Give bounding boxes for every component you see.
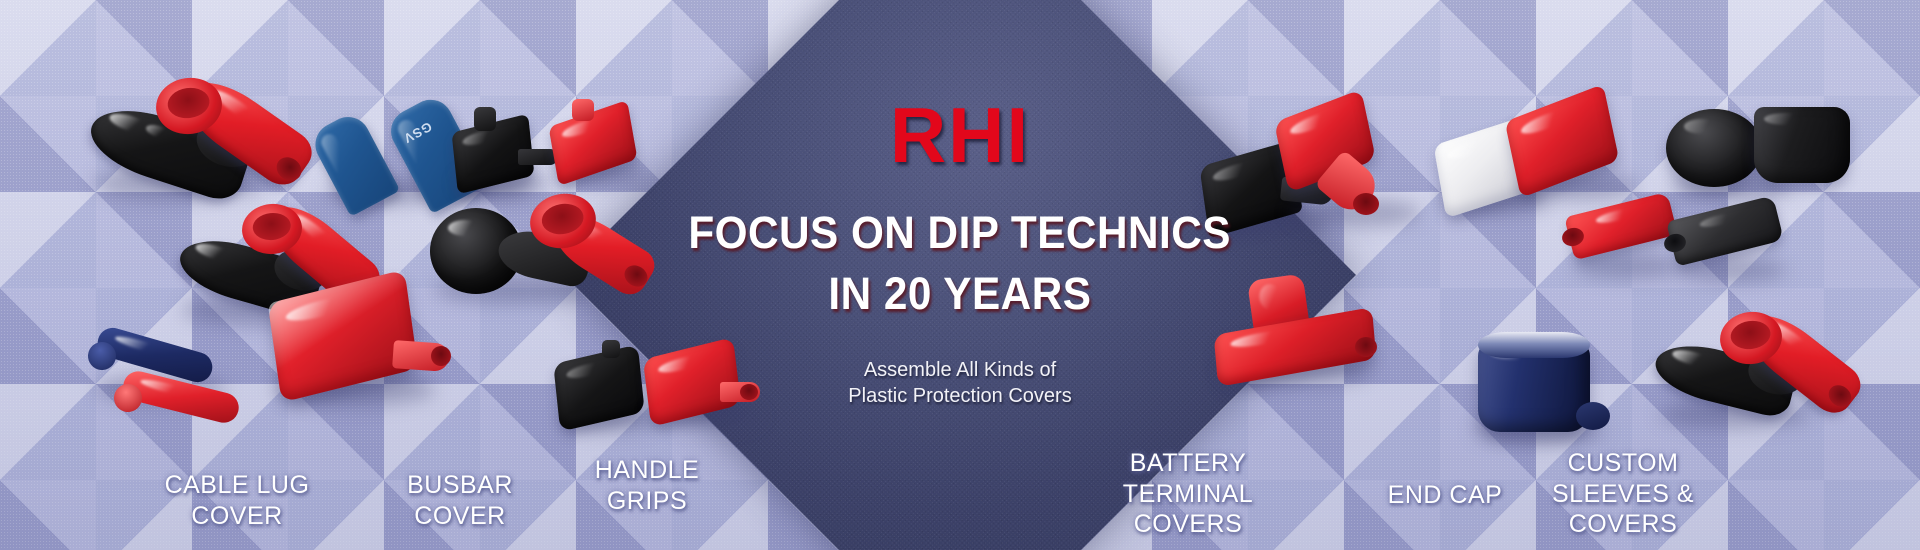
product-group-handle-grips: [548, 338, 768, 458]
product-group-end-cap-navy: [1460, 330, 1640, 460]
connector-sleeve-grey: [1666, 195, 1784, 266]
product-group-battery-terminal-covers: [1195, 95, 1445, 275]
product-group-battery-terminal-cover-multiway: [1205, 275, 1405, 405]
product-group-connector-sleeves: [1558, 190, 1808, 310]
custom-cover-black-cylinder: [1754, 107, 1850, 183]
product-group-square-covers-upper: [448, 105, 658, 215]
product-group-custom-boots: [1640, 320, 1890, 460]
product-banner: GSV: [0, 0, 1920, 550]
connector-sleeve-red: [1564, 192, 1677, 260]
custom-cover-black-disc: [1666, 109, 1762, 187]
